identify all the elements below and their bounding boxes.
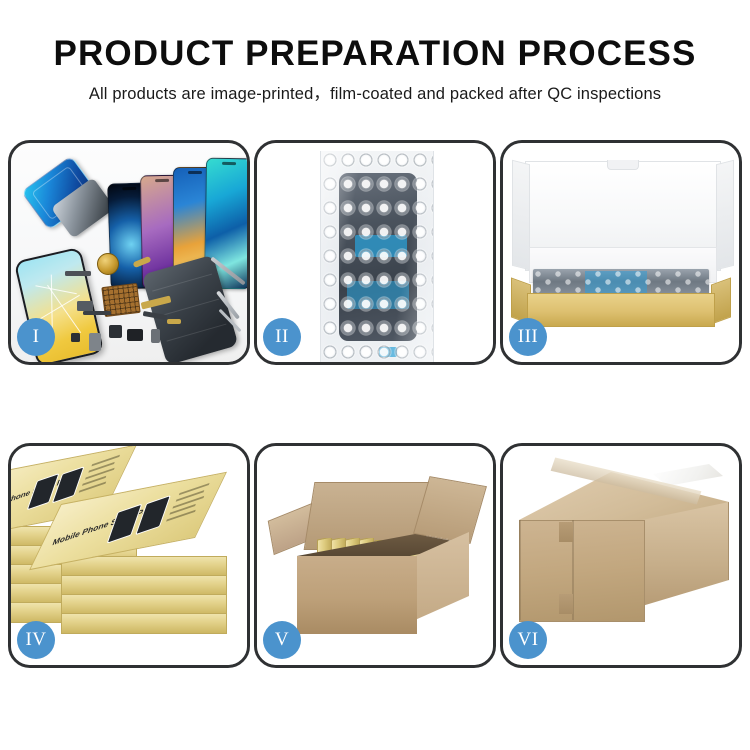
bubble-wrapped-package xyxy=(320,151,434,362)
gold-box xyxy=(61,594,227,615)
step-badge: I xyxy=(17,318,55,356)
sealed-carton-panel: VI xyxy=(500,443,742,668)
printed-boxes-panel: Mobile Phone Spare Parts xyxy=(8,443,250,668)
step-badge: III xyxy=(509,318,547,356)
speaker-part xyxy=(127,329,143,341)
carton-tab xyxy=(559,594,573,614)
gold-box xyxy=(61,613,227,634)
notch-icon xyxy=(188,171,202,174)
raw-parts-panel: I xyxy=(8,140,250,365)
camera-module-part xyxy=(109,325,122,338)
carton-front-face xyxy=(297,556,417,634)
spare-part xyxy=(83,311,111,315)
step-badge: IV xyxy=(17,621,55,659)
page-header: PRODUCT PREPARATION PROCESS All products… xyxy=(0,0,750,105)
carton-filling-panel: V xyxy=(254,443,496,668)
vibration-motor-icon xyxy=(97,253,119,275)
bubble-wrap-panel: II xyxy=(254,140,496,365)
step-badge: II xyxy=(263,318,301,356)
carton-front-face xyxy=(519,520,645,622)
inner-box-panel: III xyxy=(500,140,742,365)
kraft-box-front-face xyxy=(527,293,715,327)
page-subtitle: All products are image-printed，film-coat… xyxy=(0,83,750,105)
housing-seam xyxy=(167,324,227,342)
carton-tab xyxy=(559,522,573,542)
spare-part xyxy=(65,271,91,276)
gold-box xyxy=(61,575,227,596)
notch-icon xyxy=(122,187,136,190)
spare-part xyxy=(77,301,93,311)
notch-icon xyxy=(222,162,236,165)
sim-tray-part xyxy=(89,333,101,351)
crack-line xyxy=(35,285,76,294)
flex-cable-part xyxy=(167,319,181,324)
plastic-shine-overlay xyxy=(321,151,433,362)
step-badge: VI xyxy=(509,621,547,659)
page-title: PRODUCT PREPARATION PROCESS xyxy=(0,34,750,74)
step-badge: V xyxy=(263,621,301,659)
process-panel-grid: I II xyxy=(8,140,742,668)
battery-connector-part xyxy=(151,329,160,343)
crack-line xyxy=(38,295,80,321)
spare-part xyxy=(71,333,80,342)
notch-icon xyxy=(155,179,169,182)
housing-seam xyxy=(152,274,212,292)
carton-seam xyxy=(519,520,521,620)
lid-tab xyxy=(607,160,639,170)
